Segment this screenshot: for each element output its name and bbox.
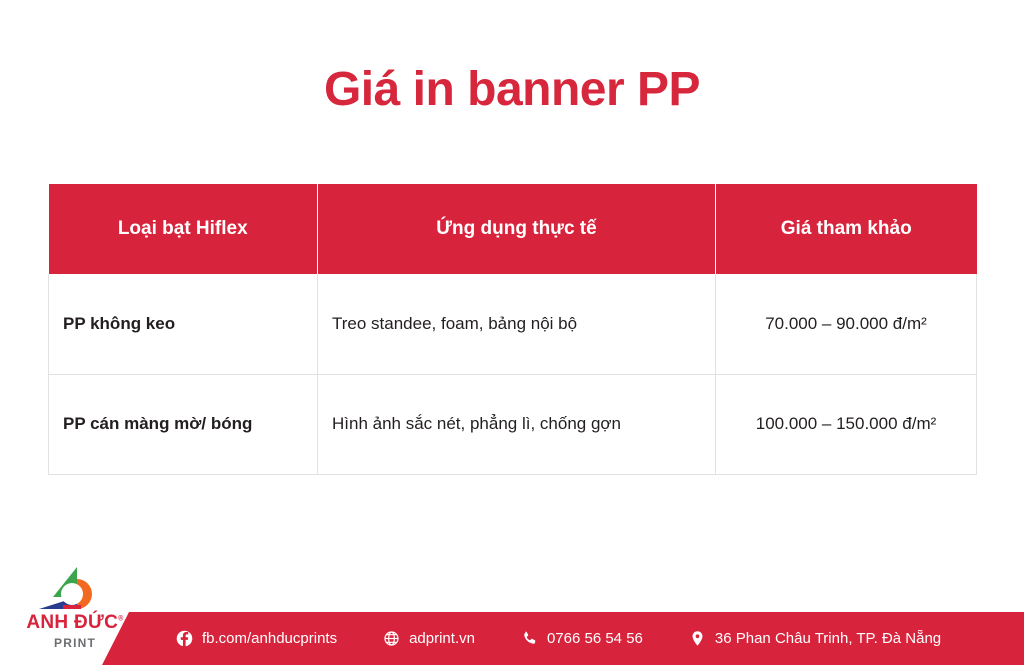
table-row: PP cán màng mờ/ bóng Hình ảnh sắc nét, p… [49,374,977,474]
registered-trademark-icon: ® [118,616,123,623]
logo-subtitle: PRINT [23,634,127,652]
footer-contact-list: fb.com/anhducprints adprint.vn 0766 [176,630,941,647]
footer-label-facebook: fb.com/anhducprints [202,630,337,647]
cell-application: Hình ảnh sắc nét, phẳng lì, chống gợn [318,374,716,474]
logo-wordmark: ANH ĐỨC® PRINT [23,613,127,652]
cell-material-type: PP cán màng mờ/ bóng [49,374,318,474]
footer-item-address[interactable]: 36 Phan Châu Trinh, TP. Đà Nẵng [689,630,941,647]
column-header-use: Ứng dụng thực tế [318,184,716,274]
table-row: PP không keo Treo standee, foam, bảng nộ… [49,274,977,374]
footer-item-facebook[interactable]: fb.com/anhducprints [176,630,337,647]
cell-material-type: PP không keo [49,274,318,374]
footer-contact-bar: fb.com/anhducprints adprint.vn 0766 [0,612,1024,665]
location-pin-icon [689,630,706,647]
price-table: Loại bạt Hiflex Ứng dụng thực tế Giá tha… [48,184,977,475]
table-header-row: Loại bạt Hiflex Ứng dụng thực tế Giá tha… [49,184,977,274]
globe-icon [383,630,400,647]
footer-label-phone: 0766 56 54 56 [547,630,643,647]
brand-logo[interactable]: ANH ĐỨC® PRINT [23,565,127,657]
cell-price: 100.000 – 150.000 đ/m² [716,374,977,474]
column-header-type: Loại bạt Hiflex [49,184,318,274]
phone-icon [521,630,538,647]
cell-price: 70.000 – 90.000 đ/m² [716,274,977,374]
logo-name-text: ANH ĐỨC® [26,613,123,634]
footer-label-website: adprint.vn [409,630,475,647]
logo-name-label: ANH ĐỨC [26,612,118,633]
page-title: Giá in banner PP [0,62,1024,117]
facebook-icon [176,630,193,647]
column-header-price: Giá tham khảo [716,184,977,274]
footer-item-website[interactable]: adprint.vn [383,630,475,647]
footer-item-phone[interactable]: 0766 56 54 56 [521,630,643,647]
footer-label-address: 36 Phan Châu Trinh, TP. Đà Nẵng [715,630,941,647]
cell-application: Treo standee, foam, bảng nội bộ [318,274,716,374]
anh-duc-triangle-icon [37,565,99,613]
